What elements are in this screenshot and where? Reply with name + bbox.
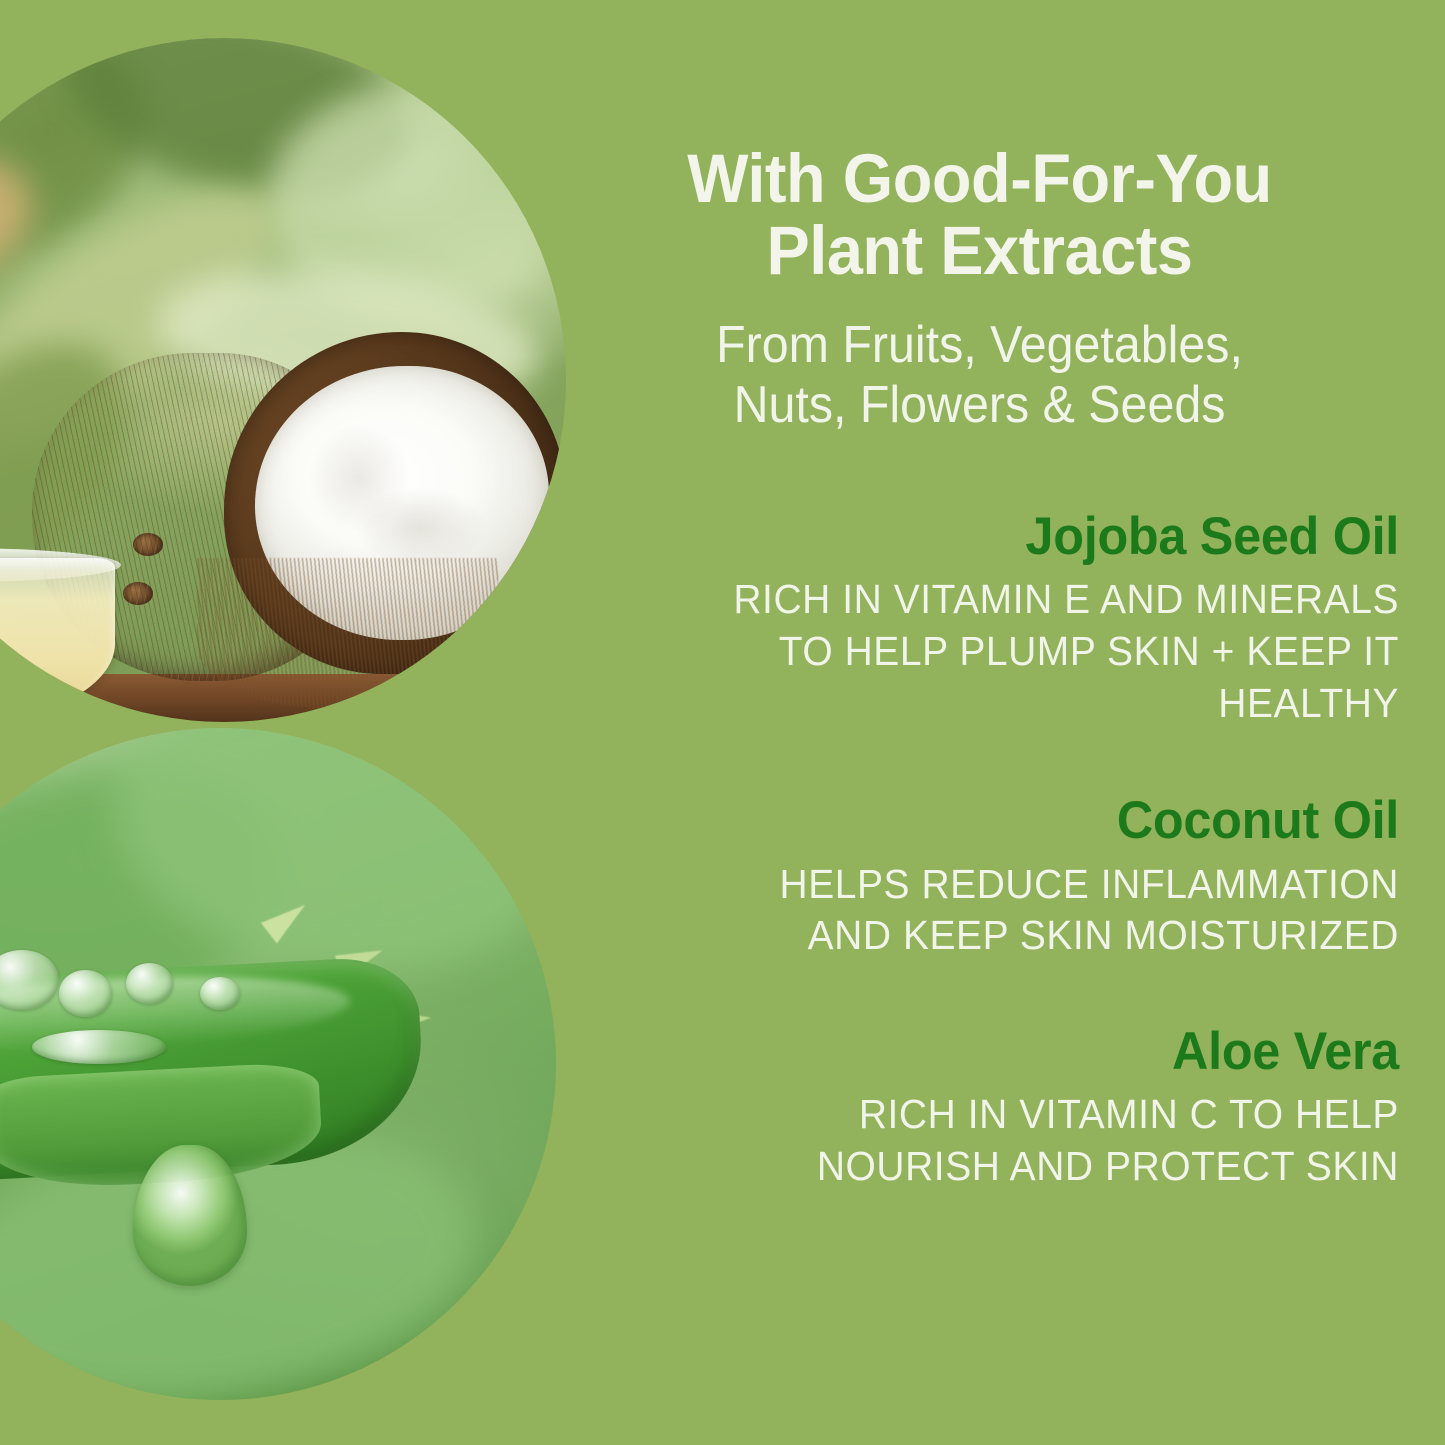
coconut-eye — [123, 582, 153, 605]
coconut-eye — [133, 533, 163, 556]
water-bead — [200, 977, 240, 1011]
page-title: With Good-For-You Plant Extracts — [585, 143, 1374, 287]
subhead-line-1: From Fruits, Vegetables, — [716, 316, 1243, 374]
water-bead — [32, 1030, 166, 1064]
ingredient-description-line-2: TO HELP PLUMP SKIN + KEEP IT HEALTHY — [602, 626, 1399, 729]
ingredient-aloe-vera: Aloe Vera RICH IN VITAMIN C TO HELP NOUR… — [602, 1022, 1399, 1193]
ingredient-coconut-oil: Coconut Oil HELPS REDUCE INFLAMMATION AN… — [602, 791, 1399, 962]
product-infographic-poster: With Good-For-You Plant Extracts From Fr… — [0, 0, 1445, 1445]
ingredient-description-line-2: NOURISH AND PROTECT SKIN — [602, 1141, 1399, 1193]
subhead-line-2: Nuts, Flowers & Seeds — [734, 376, 1226, 434]
ingredient-name: Jojoba Seed Oil — [602, 507, 1399, 566]
ingredient-name: Coconut Oil — [602, 791, 1399, 850]
headline-line-2: Plant Extracts — [766, 212, 1192, 289]
ingredient-jojoba-seed-oil: Jojoba Seed Oil RICH IN VITAMIN E AND MI… — [602, 507, 1399, 729]
ingredient-description-line-1: RICH IN VITAMIN E AND MINERALS — [602, 574, 1399, 626]
ingredient-description: RICH IN VITAMIN C TO HELP NOURISH AND PR… — [602, 1089, 1399, 1192]
coconut-husk-fibers — [197, 558, 498, 708]
ingredient-description: RICH IN VITAMIN E AND MINERALS TO HELP P… — [602, 574, 1399, 729]
ingredient-description-line-2: AND KEEP SKIN MOISTURIZED — [602, 910, 1399, 962]
aloe-photo-circle — [0, 728, 556, 1400]
ingredient-description-line-1: RICH IN VITAMIN C TO HELP — [602, 1089, 1399, 1141]
water-bead — [59, 970, 113, 1017]
ingredient-description-line-1: HELPS REDUCE INFLAMMATION — [602, 859, 1399, 911]
ingredient-description: HELPS REDUCE INFLAMMATION AND KEEP SKIN … — [602, 859, 1399, 962]
text-column: With Good-For-You Plant Extracts From Fr… — [560, 0, 1445, 1445]
coconut-photo-circle — [0, 38, 566, 722]
ingredient-name: Aloe Vera — [602, 1022, 1399, 1081]
water-bead — [126, 963, 173, 1003]
headline-line-1: With Good-For-You — [687, 140, 1272, 217]
page-subtitle: From Fruits, Vegetables, Nuts, Flowers &… — [589, 315, 1369, 436]
